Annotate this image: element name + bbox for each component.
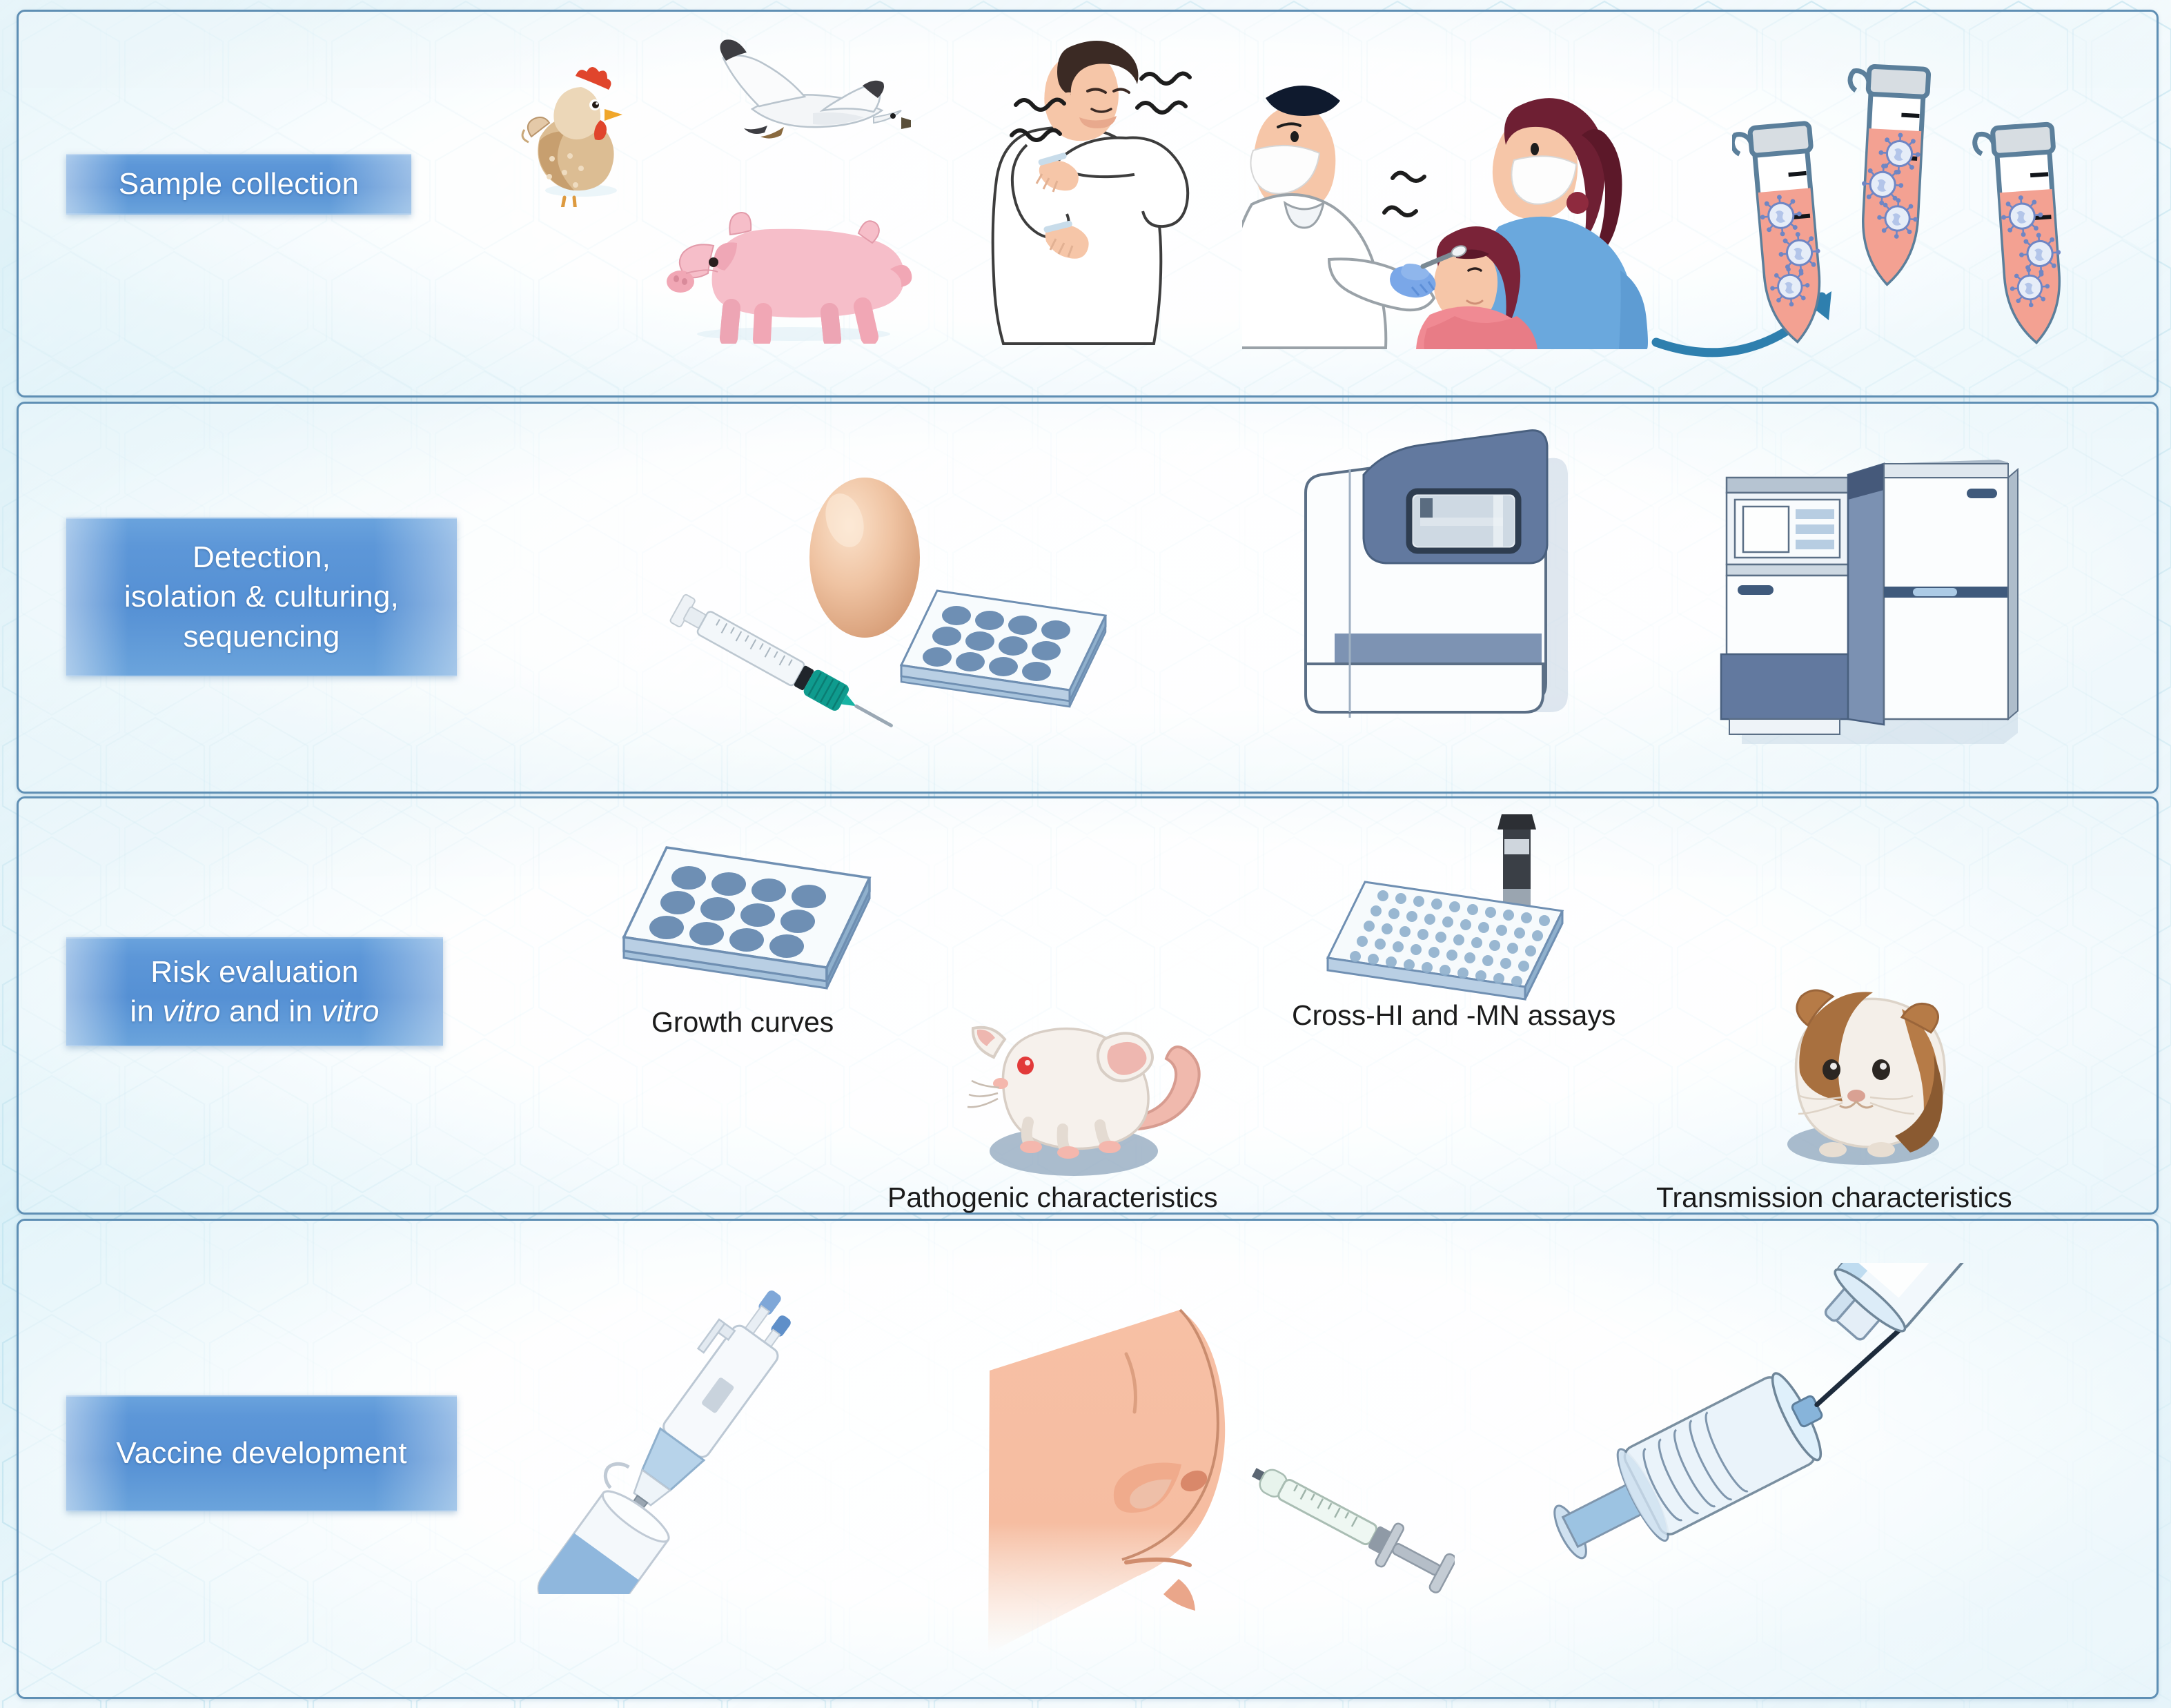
nasal-swab-collection-illustration [1242,25,1698,349]
syringe-illustration [642,585,918,744]
micropipette-and-tube-illustration [497,1270,925,1594]
mouse-illustration [951,994,1220,1187]
stage-label-text: Risk evaluation in vitro and in vitro [130,952,379,1031]
pcr-thermocycler-illustration [1275,429,1607,740]
stage-label-text: Detection, isolation & culturing, sequen… [124,538,399,656]
caption-cross-assays: Cross-HI and -MN assays [1292,999,1615,1032]
stage-label-risk-evaluation: Risk evaluation in vitro and in vitro [66,937,443,1046]
cell-culture-plate-growth-illustration [609,835,885,994]
cell-culture-plate-illustration [890,580,1118,711]
stage-label-vaccine-development: Vaccine development [66,1395,457,1511]
stage-label-sample-collection: Sample collection [66,154,411,215]
syringe-and-vaccine-vial-illustration [1504,1263,2015,1608]
stage-label-text: Vaccine development [116,1433,406,1473]
guinea-pig-illustration [1760,966,1967,1173]
caption-pathogenic-characteristics: Pathogenic characteristics [887,1181,1218,1214]
coughing-patient-illustration [966,28,1256,352]
stage-label-text: Sample collection [119,164,359,204]
caption-transmission-characteristics: Transmission characteristics [1656,1181,2012,1214]
specimen-tubes-illustration [1732,41,2077,345]
micropipette-96-well-plate-illustration [1311,807,1622,1008]
chicken-illustration [504,55,656,207]
caption-growth-curves: Growth curves [651,1006,834,1039]
pig-illustration [656,185,932,344]
stage-label-detection-isolation-sequencing: Detection, isolation & culturing, sequen… [66,518,457,676]
wild-bird-illustration [649,21,911,166]
intranasal-vaccination-illustration [972,1304,1455,1663]
dna-sequencer-illustration [1688,447,2033,744]
